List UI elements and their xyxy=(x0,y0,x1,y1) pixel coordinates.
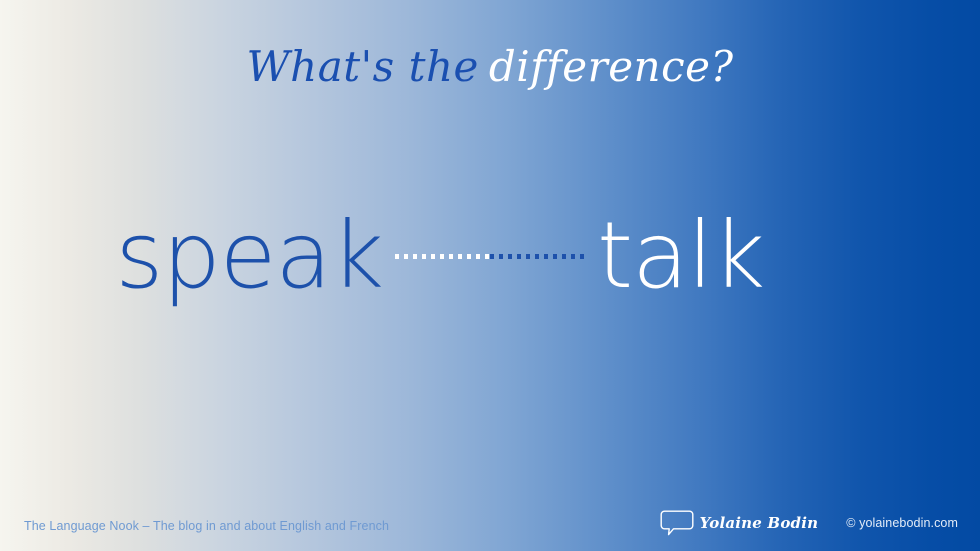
page-title: What's thedifference? xyxy=(0,44,980,90)
comparison-row: speak talk xyxy=(0,196,980,316)
footer-branding: Yolaine Bodin © yolainebodin.com xyxy=(660,510,958,536)
brand-logo[interactable]: Yolaine Bodin xyxy=(660,510,819,536)
connector-segment-blue xyxy=(490,254,585,259)
comparison-word-left: speak xyxy=(93,210,387,302)
comparison-word-right: talk xyxy=(593,210,887,302)
brand-name-label: Yolaine Bodin xyxy=(700,514,819,532)
slide-canvas: What's thedifference? speak talk The Lan… xyxy=(0,0,980,551)
connector-dotted-line xyxy=(395,251,585,261)
connector-segment-white xyxy=(395,254,490,259)
footer-tagline: The Language Nook – The blog in and abou… xyxy=(24,519,389,533)
title-part-question: What's the xyxy=(246,42,478,91)
title-part-difference: difference? xyxy=(489,42,734,91)
speech-bubble-icon xyxy=(660,510,694,536)
copyright-label[interactable]: © yolainebodin.com xyxy=(846,516,958,530)
